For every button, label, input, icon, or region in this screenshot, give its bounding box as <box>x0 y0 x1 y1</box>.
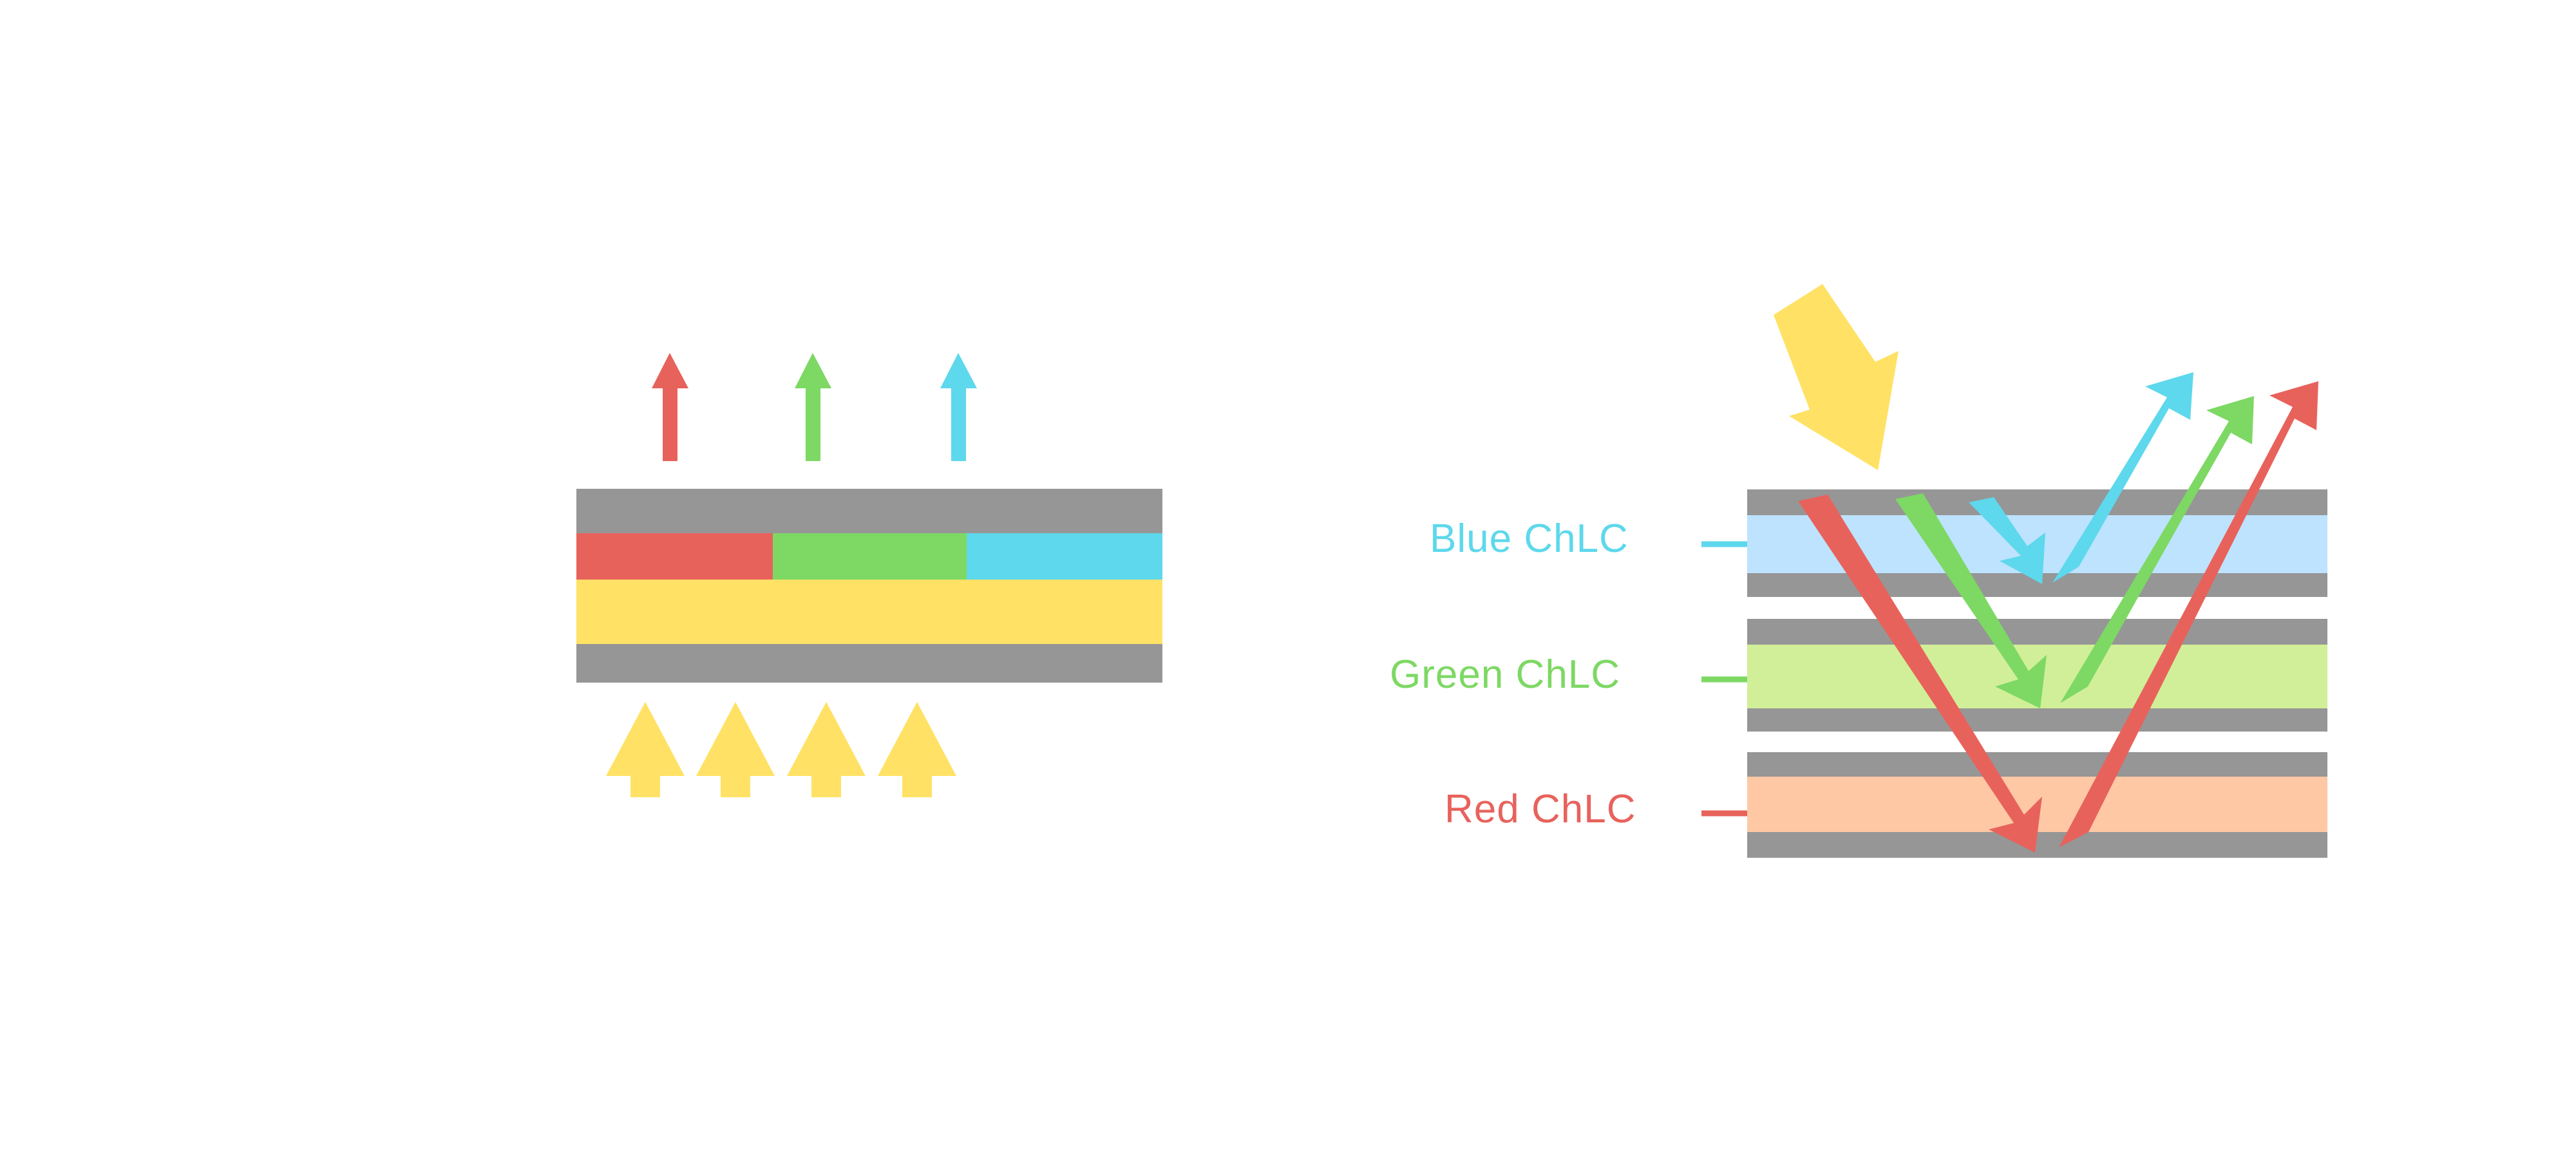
green-chlc-label: Green ChLC <box>1390 652 1620 697</box>
figure-root: Blue ChLC Green ChLC Red ChLC <box>0 0 2576 1154</box>
left-bottom-electrode <box>576 644 1162 683</box>
backlight-layer <box>576 580 1162 644</box>
left-top-electrode <box>576 489 1162 533</box>
green-cell-bottom-electrode <box>1747 708 2327 732</box>
green-cell-top-electrode <box>1747 619 2327 645</box>
cyan-subpixel <box>967 533 1162 580</box>
red-cell-top-electrode <box>1747 752 2327 777</box>
left-stack-layers <box>576 489 1162 683</box>
blue-chlc-label: Blue ChLC <box>1430 516 1629 561</box>
red-cell-bottom-electrode <box>1747 832 2327 858</box>
red-subpixel <box>576 533 773 580</box>
red-chlc-label: Red ChLC <box>1444 787 1636 831</box>
schematic-canvas: Blue ChLC Green ChLC Red ChLC <box>0 0 2576 1154</box>
green-subpixel <box>773 533 967 580</box>
